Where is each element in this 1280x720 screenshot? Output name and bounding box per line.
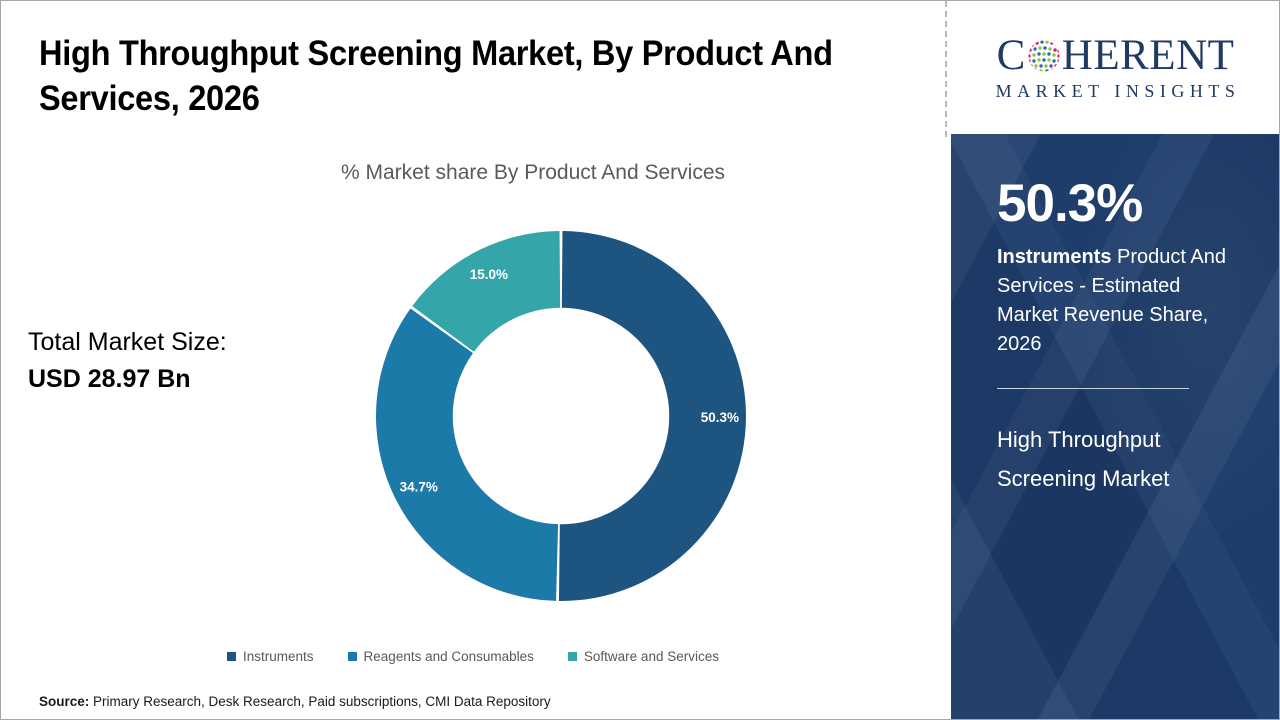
total-market-size-value: USD 28.97 Bn: [28, 361, 227, 398]
legend-swatch-icon: [227, 652, 236, 661]
legend-item[interactable]: Reagents and Consumables: [348, 649, 534, 664]
logo-wordmark: C: [997, 34, 1235, 77]
page-title: High Throughput Screening Market, By Pro…: [39, 31, 839, 121]
stat-value: 50.3%: [997, 177, 1247, 230]
stat-description-emphasis: Instruments: [997, 246, 1111, 268]
donut-slice-label: 50.3%: [701, 410, 739, 425]
donut-slice[interactable]: [376, 308, 558, 600]
vertical-dashed-divider: [945, 1, 947, 137]
source-text: Primary Research, Desk Research, Paid su…: [89, 694, 550, 709]
dotted-globe-icon: [1027, 38, 1061, 72]
donut-slice-label: 34.7%: [400, 479, 438, 494]
donut-chart-svg: 50.3%34.7%15.0%: [371, 226, 751, 606]
legend-swatch-icon: [348, 652, 357, 661]
source-label: Source:: [39, 694, 89, 709]
chart-subtitle: % Market share By Product And Services: [341, 161, 861, 185]
legend-swatch-icon: [568, 652, 577, 661]
legend-label: Software and Services: [584, 649, 719, 664]
panel-content: 50.3% Instruments Product And Services -…: [951, 134, 1280, 498]
total-market-size-label: Total Market Size:: [28, 324, 227, 361]
brand-logo: C: [951, 2, 1280, 133]
highlight-panel: 50.3% Instruments Product And Services -…: [951, 134, 1280, 720]
source-note: Source: Primary Research, Desk Research,…: [39, 694, 551, 709]
legend-label: Reagents and Consumables: [364, 649, 534, 664]
donut-slice-label: 15.0%: [470, 267, 508, 282]
legend-label: Instruments: [243, 649, 314, 664]
panel-divider-rule: [997, 388, 1189, 389]
donut-chart: 50.3%34.7%15.0%: [371, 226, 751, 606]
donut-slice-group: [376, 231, 746, 601]
chart-legend: InstrumentsReagents and ConsumablesSoftw…: [1, 649, 945, 664]
infographic-page: High Throughput Screening Market, By Pro…: [0, 0, 1280, 720]
legend-item[interactable]: Instruments: [227, 649, 314, 664]
total-market-size-block: Total Market Size: USD 28.97 Bn: [28, 324, 227, 398]
logo-letters-herent: HERENT: [1062, 34, 1235, 77]
logo-letter-c: C: [997, 34, 1026, 77]
logo-tagline: MARKET INSIGHTS: [991, 81, 1241, 102]
chart-region: High Throughput Screening Market, By Pro…: [1, 1, 945, 719]
panel-market-name: High Throughput Screening Market: [997, 420, 1247, 498]
legend-item[interactable]: Software and Services: [568, 649, 719, 664]
stat-description: Instruments Product And Services - Estim…: [997, 243, 1247, 359]
